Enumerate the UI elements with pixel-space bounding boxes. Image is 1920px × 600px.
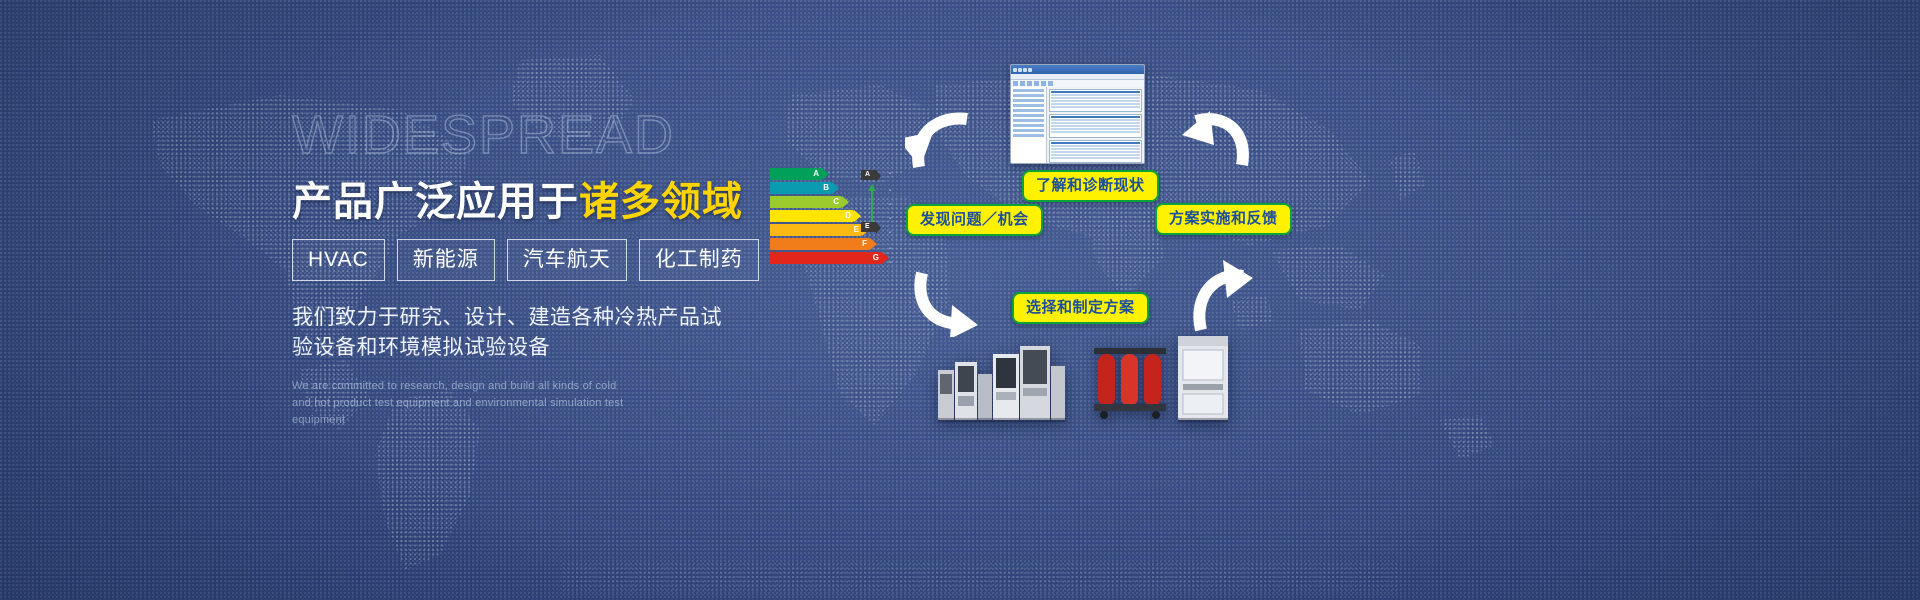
window-toolbar <box>1011 80 1144 87</box>
energy-bar-label-e: E <box>854 226 862 234</box>
energy-bar-d: D <box>770 210 854 222</box>
energy-bar-e: E <box>770 224 862 236</box>
callout-understand-diagnose[interactable]: 了解和诊断现状 <box>1022 170 1159 202</box>
software-screenshot <box>1010 64 1145 164</box>
window-panes <box>1047 87 1144 164</box>
callout-select-plan[interactable]: 选择和制定方案 <box>1012 292 1149 324</box>
scale-tick-1: ▪ <box>889 188 891 194</box>
window-close-icon <box>1028 68 1032 72</box>
tag-list: HVAC 新能源 汽车航天 化工制药 <box>292 239 762 281</box>
arrow-curve-top-right-icon <box>1180 105 1258 173</box>
window-pane-3 <box>1049 140 1142 163</box>
arrow-curve-top-left-icon <box>905 105 977 173</box>
scale-tick-5: ▪ <box>889 246 891 252</box>
energy-bar-label-c: C <box>833 198 842 206</box>
energy-bar-b: B <box>770 182 832 194</box>
energy-scale-column: A E ▪ ▪ ▪ ▪ ▪ ▪ ▪ <box>855 168 905 268</box>
scale-tick-4: ▪ <box>889 230 891 236</box>
window-pane-2 <box>1049 114 1142 137</box>
arrow-curve-bottom-left-icon <box>908 265 982 337</box>
description-english-line2: and hot product test equipment and envir… <box>292 395 652 429</box>
page-title: 产品广泛应用于诸多领域 <box>292 180 762 225</box>
energy-bar-c: C <box>770 196 842 208</box>
window-tree-panel <box>1011 87 1047 164</box>
tag-new-energy[interactable]: 新能源 <box>397 239 495 281</box>
tag-chemical-pharma[interactable]: 化工制药 <box>639 239 759 281</box>
scale-tick-6: ▪ <box>889 260 891 266</box>
headline-primary: 产品广泛应用于 <box>292 180 579 224</box>
energy-bar-a: A <box>770 168 822 180</box>
scale-tick-0: ▪ <box>889 171 891 177</box>
product-photo-chambers-group <box>938 344 1066 420</box>
energy-bar-label-g: G <box>873 254 882 262</box>
energy-scale-title <box>855 158 857 164</box>
energy-bar-label-d: D <box>845 212 854 220</box>
scale-badge-e: E <box>861 222 876 232</box>
hero-copy: WIDESPREAD 产品广泛应用于诸多领域 HVAC 新能源 汽车航天 化工制… <box>292 108 762 429</box>
callout-discover-problem[interactable]: 发现问题／机会 <box>906 204 1043 236</box>
tag-automotive-aerospace[interactable]: 汽车航天 <box>507 239 627 281</box>
energy-bar-label-f: F <box>862 240 870 248</box>
window-max-icon <box>1023 68 1027 72</box>
product-photo-red-cylinders <box>1090 340 1168 418</box>
window-titlebar <box>1011 65 1144 74</box>
callout-implement-feedback[interactable]: 方案实施和反馈 <box>1155 203 1292 235</box>
scale-tick-2: ▪ <box>889 202 891 208</box>
window-min-icon <box>1018 68 1022 72</box>
description-english: We are committed to research, design and… <box>292 378 652 429</box>
description-chinese: 我们致力于研究、设计、建造各种冷热产品试验设备和环境模拟试验设备 <box>292 303 722 364</box>
banner-root: WIDESPREAD 产品广泛应用于诸多领域 HVAC 新能源 汽车航天 化工制… <box>0 0 1920 600</box>
energy-bar-label-b: B <box>823 184 832 192</box>
tag-hvac[interactable]: HVAC <box>292 239 385 281</box>
arrow-curve-bottom-right-icon <box>1183 258 1259 336</box>
scale-badge-a: A <box>861 170 876 180</box>
headline-accent: 诸多领域 <box>579 180 743 224</box>
window-body <box>1011 87 1144 164</box>
scale-tick-3: ▪ <box>889 216 891 222</box>
energy-bar-label-a: A <box>813 170 822 178</box>
window-icon <box>1013 68 1017 72</box>
product-photo-tall-cabinet <box>1176 336 1228 420</box>
ghost-headline-word: WIDESPREAD <box>292 108 762 170</box>
window-pane-1 <box>1049 89 1142 112</box>
description-english-line1: We are committed to research, design and… <box>292 378 652 395</box>
